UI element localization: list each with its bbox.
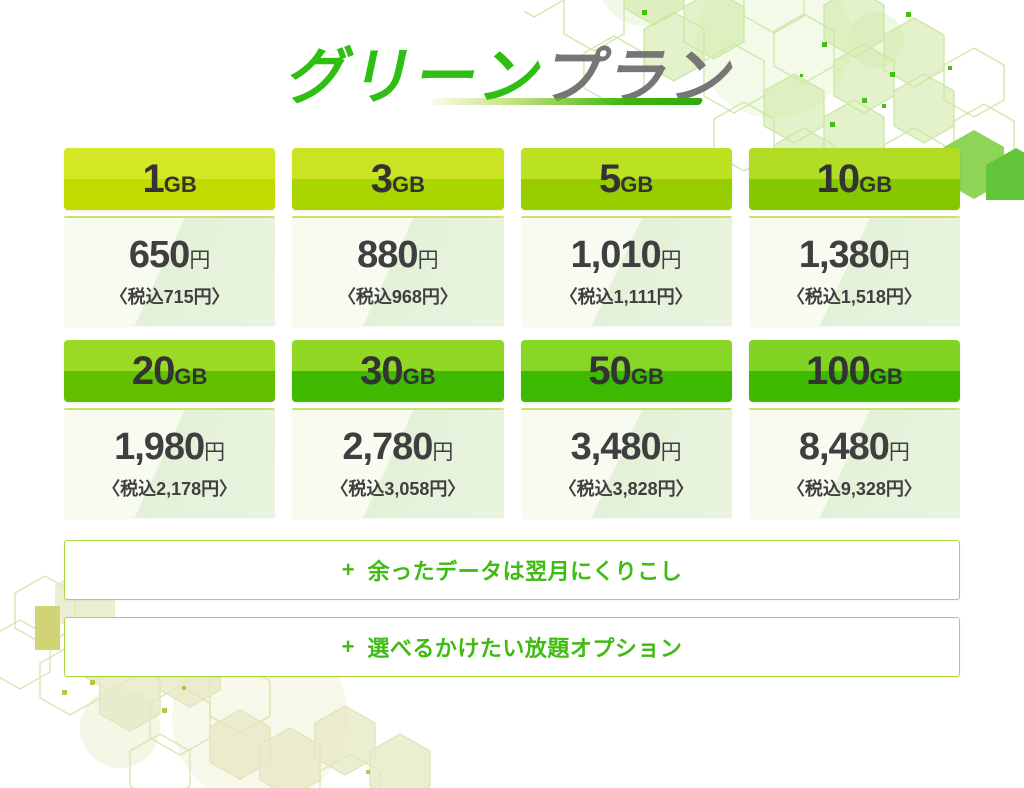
plan-card[interactable]: 30GB 2,780円 〈税込3,058円〉: [292, 340, 503, 518]
plan-capacity-unit: GB: [174, 364, 207, 389]
plus-icon: +: [342, 636, 355, 658]
plan-tax-included: 〈税込3,828円〉: [559, 475, 694, 501]
plan-price-unit: 円: [661, 441, 682, 464]
plan-capacity-header: 50GB: [521, 340, 732, 402]
plan-tax-included: 〈税込1,111円〉: [560, 283, 693, 309]
banner-label: 余ったデータは翌月にくりこし: [368, 554, 683, 586]
plan-price: 1,380円: [787, 236, 922, 274]
plan-capacity-label: 10GB: [817, 157, 893, 202]
plan-price-body: 880円 〈税込968円〉: [292, 216, 503, 326]
page-title: グリーンプラン: [0, 40, 1024, 120]
plan-price-body: 1,010円 〈税込1,111円〉: [521, 216, 732, 326]
plan-tax-included: 〈税込715円〉: [110, 283, 230, 309]
plan-price-number: 1,980: [114, 426, 204, 468]
plan-capacity-label: 3GB: [371, 157, 425, 202]
plan-capacity-number: 3: [371, 157, 392, 201]
plan-tax-included: 〈税込1,518円〉: [787, 283, 922, 309]
plan-price: 880円: [338, 236, 458, 274]
plan-price-body: 1,980円 〈税込2,178円〉: [64, 408, 275, 518]
plan-capacity-unit: GB: [620, 172, 653, 197]
title-underline: [431, 98, 704, 105]
plan-card[interactable]: 20GB 1,980円 〈税込2,178円〉: [64, 340, 275, 518]
plan-price: 1,980円: [102, 428, 237, 466]
plan-capacity-unit: GB: [870, 364, 903, 389]
plan-price-unit: 円: [889, 249, 910, 272]
plan-capacity-header: 100GB: [749, 340, 960, 402]
plan-tax-included: 〈税込2,178円〉: [102, 475, 237, 501]
plus-icon: +: [342, 559, 355, 581]
plan-capacity-number: 5: [599, 157, 620, 201]
plan-tax-included: 〈税込9,328円〉: [787, 475, 922, 501]
plan-capacity-unit: GB: [859, 172, 892, 197]
plan-capacity-label: 100GB: [806, 349, 903, 394]
plan-capacity-header: 5GB: [521, 148, 732, 210]
plan-price-unit: 円: [889, 441, 910, 464]
plan-price: 8,480円: [787, 428, 922, 466]
plan-price: 2,780円: [330, 428, 465, 466]
plan-capacity-unit: GB: [392, 172, 425, 197]
plan-price-number: 1,380: [799, 234, 889, 276]
plan-price-body: 2,780円 〈税込3,058円〉: [292, 408, 503, 518]
plan-grid: 1GB 650円 〈税込715円〉 3GB 880円 〈税込968円〉: [64, 148, 960, 518]
plan-price-unit: 円: [418, 249, 439, 272]
plan-row-1: 1GB 650円 〈税込715円〉 3GB 880円 〈税込968円〉: [64, 148, 960, 326]
plan-capacity-unit: GB: [403, 364, 436, 389]
plan-card[interactable]: 3GB 880円 〈税込968円〉: [292, 148, 503, 326]
plan-price-unit: 円: [661, 249, 682, 272]
plan-capacity-number: 30: [360, 349, 403, 393]
plan-card[interactable]: 100GB 8,480円 〈税込9,328円〉: [749, 340, 960, 518]
plan-capacity-header: 20GB: [64, 340, 275, 402]
plan-capacity-number: 10: [817, 157, 860, 201]
plan-card[interactable]: 10GB 1,380円 〈税込1,518円〉: [749, 148, 960, 326]
plan-price: 1,010円: [560, 236, 693, 274]
plan-capacity-label: 1GB: [143, 157, 197, 202]
plan-capacity-number: 20: [132, 349, 175, 393]
plan-price-number: 650: [129, 234, 189, 276]
plan-capacity-label: 20GB: [132, 349, 208, 394]
plan-capacity-unit: GB: [631, 364, 664, 389]
plan-price-unit: 円: [432, 441, 453, 464]
plan-price-body: 650円 〈税込715円〉: [64, 216, 275, 326]
plan-capacity-number: 50: [588, 349, 631, 393]
plan-price-number: 880: [357, 234, 417, 276]
plan-row-2: 20GB 1,980円 〈税込2,178円〉 30GB 2,780円 〈税込3,…: [64, 340, 960, 518]
banner-data-carryover[interactable]: + 余ったデータは翌月にくりこし: [64, 540, 960, 600]
plan-tax-included: 〈税込968円〉: [338, 283, 458, 309]
plan-price-body: 1,380円 〈税込1,518円〉: [749, 216, 960, 326]
plan-capacity-label: 5GB: [599, 157, 653, 202]
plan-price-number: 1,010: [571, 234, 661, 276]
plan-price-number: 3,480: [571, 426, 661, 468]
plan-price-number: 8,480: [799, 426, 889, 468]
plan-capacity-header: 30GB: [292, 340, 503, 402]
plan-capacity-label: 50GB: [588, 349, 664, 394]
plan-card[interactable]: 50GB 3,480円 〈税込3,828円〉: [521, 340, 732, 518]
plan-capacity-number: 1: [143, 157, 164, 201]
banner-label: 選べるかけたい放題オプション: [367, 631, 682, 663]
plan-card[interactable]: 1GB 650円 〈税込715円〉: [64, 148, 275, 326]
plan-capacity-unit: GB: [164, 172, 197, 197]
plan-tax-included: 〈税込3,058円〉: [330, 475, 465, 501]
plan-capacity-header: 3GB: [292, 148, 503, 210]
plan-card[interactable]: 5GB 1,010円 〈税込1,111円〉: [521, 148, 732, 326]
plan-price-unit: 円: [204, 441, 225, 464]
feature-banners: + 余ったデータは翌月にくりこし + 選べるかけたい放題オプション: [64, 540, 960, 694]
plan-capacity-header: 10GB: [749, 148, 960, 210]
plan-price-number: 2,780: [342, 426, 432, 468]
plan-capacity-header: 1GB: [64, 148, 275, 210]
plan-price: 3,480円: [559, 428, 694, 466]
plan-capacity-number: 100: [806, 349, 870, 393]
plan-capacity-label: 30GB: [360, 349, 436, 394]
plan-price-body: 8,480円 〈税込9,328円〉: [749, 408, 960, 518]
banner-call-option[interactable]: + 選べるかけたい放題オプション: [64, 617, 960, 677]
plan-price: 650円: [110, 236, 230, 274]
plan-price-body: 3,480円 〈税込3,828円〉: [521, 408, 732, 518]
plan-price-unit: 円: [189, 249, 210, 272]
